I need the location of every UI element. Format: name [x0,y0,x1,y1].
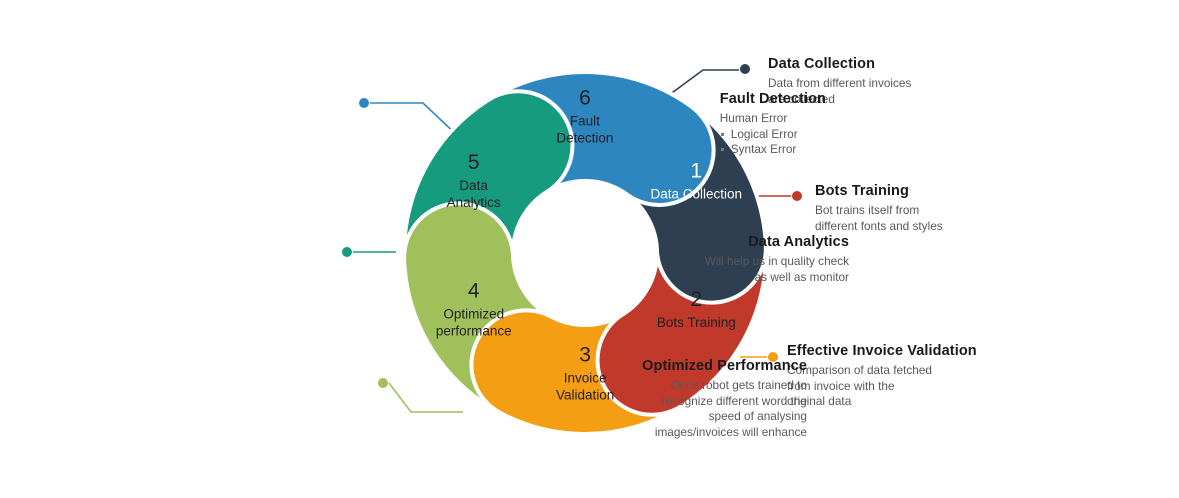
callout-title: Fault Detection [720,90,832,109]
cycle-donut-diagram: 1Data Collection2Bots Training3InvoiceVa… [0,0,1179,498]
connector-dot-data-analytics [342,247,352,257]
segment-number: 3 [579,344,591,367]
callout-line: different fonts and styles [815,219,943,235]
segment-number: 1 [690,160,702,183]
callout-line: original data [787,394,977,410]
segment-number: 2 [690,288,702,311]
connector-dot-bots-training [792,191,802,201]
segment-label-line1: Optimized [443,306,504,321]
callout-line: Comparison of data fetched [787,363,977,379]
segment-label-line1: Data Collection [650,187,742,202]
callout-bullet: Logical Error [720,127,832,143]
callout-title: Bots Training [815,182,943,201]
callout-fault-detection[interactable]: Fault Detection Human Error Logical Erro… [720,90,832,158]
segment-label-line1: Invoice [564,371,607,386]
callout-line: Once robot gets trained to [642,378,807,394]
callout-title: Effective Invoice Validation [787,342,977,361]
segment-label-line1: Fault [570,114,600,129]
segment-number: 5 [468,151,480,174]
segment-label-line2: Validation [556,388,614,403]
connector-line-optimized-performance [389,383,463,412]
callout-line: recognize different word the [642,394,807,410]
callout-title: Optimized Performance [642,357,807,376]
callout-body: Will help us in quality check as well as… [705,254,849,285]
callout-bullet: Syntax Error [720,142,832,158]
callout-title: Data Analytics [705,233,849,252]
callout-body: Once robot gets trained to recognize dif… [642,378,807,440]
segment-label-line2: Detection [556,131,613,146]
callout-effective-invoice-validation[interactable]: Effective Invoice Validation Comparison … [787,342,977,410]
callout-title: Data Collection [768,55,911,74]
callout-data-analytics[interactable]: Data Analytics Will help us in quality c… [705,233,849,285]
callout-line: images/invoices will enhance [642,425,807,441]
callout-line: Human Error [720,111,832,127]
callout-line: Will help us in quality check [705,254,849,270]
segment-number: 4 [468,279,480,302]
infographic-canvas: 1Data Collection2Bots Training3InvoiceVa… [0,0,1179,498]
callout-bots-training[interactable]: Bots Training Bot trains itself from dif… [815,182,943,234]
callout-line: speed of analysing [642,409,807,425]
connector-dot-optimized-performance [378,378,388,388]
callout-line: as well as monitor [705,270,849,286]
segment-label-line2: performance [436,323,512,338]
callout-body: Human Error Logical Error Syntax Error [720,111,832,158]
segment-label-line1: Data [459,178,488,193]
segment-label-line2: Analytics [447,195,501,210]
segment-label-line1: Bots Training [657,315,736,330]
segment-number: 6 [579,87,591,110]
connector-dot-fault-detection [359,98,369,108]
callout-line: from invoice with the [787,379,977,395]
callout-line: Bot trains itself from [815,203,943,219]
callout-body: Comparison of data fetched from invoice … [787,363,977,410]
callout-optimized-performance[interactable]: Optimized Performance Once robot gets tr… [642,357,807,440]
callout-body: Bot trains itself from different fonts a… [815,203,943,234]
connector-dot-data-collection [740,64,750,74]
